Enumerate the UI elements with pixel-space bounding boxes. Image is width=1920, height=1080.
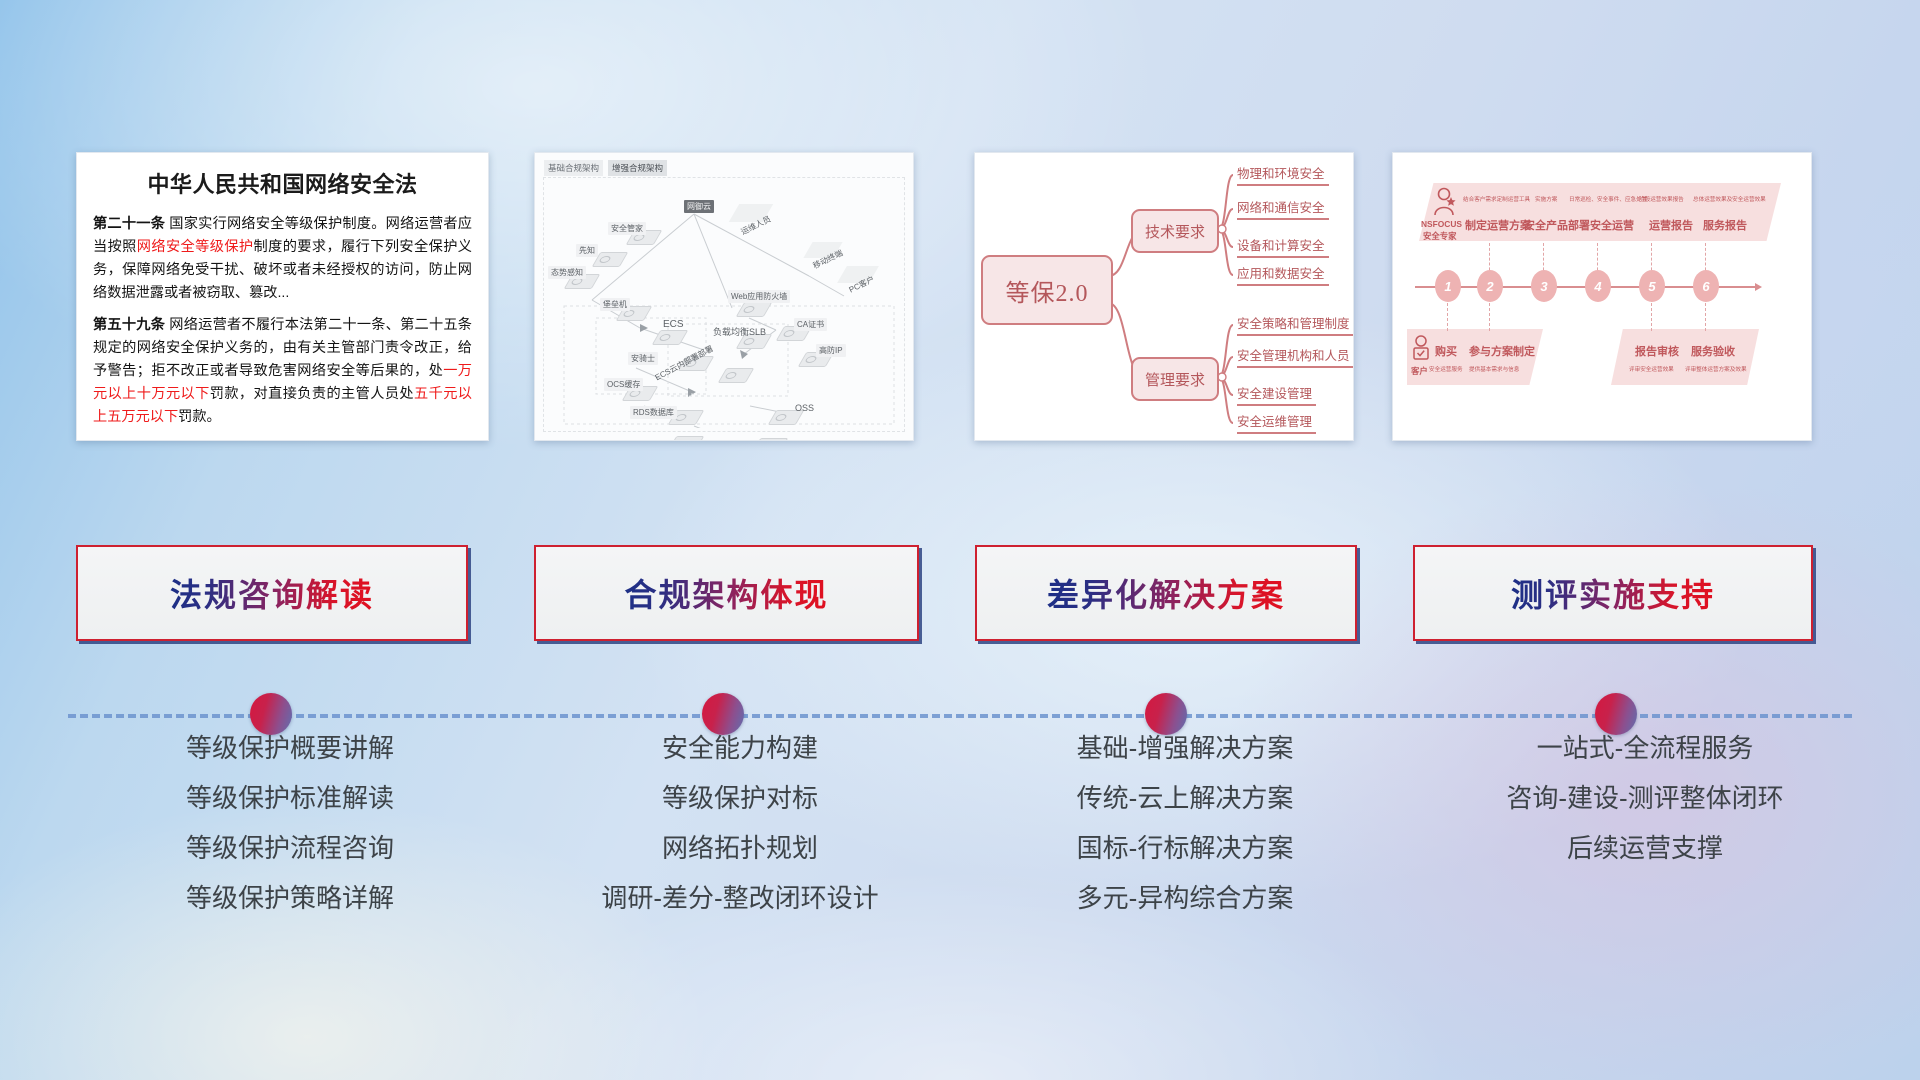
arch-node-icon-db-audit — [668, 436, 705, 441]
flow-step-6[interactable]: 6 — [1693, 270, 1719, 302]
bullet-item: 等级保护策略详解 — [60, 885, 520, 911]
mindmap-root-node[interactable]: 等保2.0 — [981, 255, 1113, 325]
arch-label-ocs-cache: OCS缓存 — [604, 378, 643, 391]
flow-top-sub-4: 阶段运营效果报告 — [1639, 195, 1684, 203]
bullet-item: 国标-行标解决方案 — [960, 835, 1410, 861]
flow-step-1[interactable]: 1 — [1435, 270, 1461, 302]
bullet-column-2: 安全能力构建 等级保护对标 网络拓扑规划 调研-差分-整改闭环设计 — [520, 735, 960, 935]
bullet-item: 等级保护流程咨询 — [60, 835, 520, 861]
arch-label-waf: Web应用防火墙 — [728, 290, 790, 303]
arch-label-slb: 负载均衡SLB — [710, 324, 769, 339]
architecture-connectors — [544, 178, 908, 428]
timeline-dot-3[interactable] — [1145, 693, 1187, 735]
bullet-column-3: 基础-增强解决方案 传统-云上解决方案 国标-行标解决方案 多元-异构综合方案 — [960, 735, 1410, 935]
bullet-column-1: 等级保护概要讲解 等级保护标准解读 等级保护流程咨询 等级保护策略详解 — [60, 735, 520, 935]
section-title-row: 法规咨询解读 合规架构体现 差异化解决方案 测评实施支持 — [0, 545, 1920, 641]
customer-avatar-icon — [1409, 335, 1433, 363]
law-article-21-number: 第二十一条 — [93, 216, 165, 232]
arch-label-oss: OSS — [792, 402, 817, 414]
tab-enhanced-architecture[interactable]: 增强合规架构 — [608, 160, 667, 176]
bullet-item: 网络拓扑规划 — [520, 835, 960, 861]
flow-top-sub-2: 实施方案 — [1535, 195, 1557, 203]
thumbnail-card-row: 中华人民共和国网络安全法 第二十一条 国家实行网络安全等级保护制度。网络运营者应… — [0, 152, 1920, 444]
mindmap-leaf-construction-mgmt: 安全建设管理 — [1237, 383, 1312, 404]
arch-label-anti-ddos-ip: 高防IP — [816, 344, 846, 357]
arch-label-situation-awareness: 态势感知 — [548, 266, 586, 279]
flow-step-3[interactable]: 3 — [1531, 270, 1557, 302]
arch-label-rds-db: RDS数据库 — [630, 406, 677, 419]
law-article-59-seg-2: 罚款，对直接负责的主管人员处 — [210, 386, 414, 402]
section-title-label-2: 合规架构体现 — [624, 570, 828, 616]
section-title-box-3[interactable]: 差异化解决方案 — [975, 545, 1357, 641]
section-title-label-3: 差异化解决方案 — [1047, 570, 1285, 616]
flow-bottom-title-2: 参与方案制定 — [1469, 343, 1535, 359]
bullet-item: 等级保护标准解读 — [60, 785, 520, 811]
flow-axis-arrow-icon — [1755, 283, 1762, 291]
arch-label-security-butler: 安全管家 — [608, 222, 646, 235]
bullet-item: 等级保护对标 — [520, 785, 960, 811]
flow-step-5[interactable]: 5 — [1639, 270, 1665, 302]
mindmap-leaf-physical-env: 物理和环境安全 — [1237, 163, 1325, 184]
flow-top-title-5: 服务报告 — [1703, 217, 1747, 233]
bullet-item: 后续运营支撑 — [1410, 835, 1880, 861]
law-title: 中华人民共和国网络安全法 — [93, 167, 472, 199]
card-cybersecurity-law[interactable]: 中华人民共和国网络安全法 第二十一条 国家实行网络安全等级保护制度。网络运营者应… — [76, 152, 489, 441]
law-article-21-seg-1: 网络安全等级保护 — [137, 239, 254, 255]
expert-role-line2: 安全专家 — [1423, 230, 1457, 242]
arch-label-wangyuyun: 网御云 — [684, 200, 714, 213]
flow-step-4[interactable]: 4 — [1585, 270, 1611, 302]
flow-top-sub-3: 日常巡检、安全事件、应急处置 — [1569, 195, 1647, 203]
architecture-canvas: 网御云 安全管家 先知 态势感知 堡垒机 ECS 安骑士 OCS缓存 ECS云内… — [543, 177, 905, 432]
flow-bottom-sub-4: 评审整体运营方案及效果 — [1685, 365, 1747, 373]
bullet-item: 传统-云上解决方案 — [960, 785, 1410, 811]
expert-role-line1: NSFOCUS — [1421, 219, 1462, 229]
timeline-dot-2[interactable] — [702, 693, 744, 735]
flow-top-title-1: 制定运营方案 — [1465, 217, 1531, 233]
mindmap-branch-management[interactable]: 管理要求 — [1131, 357, 1219, 401]
mindmap-leaf-network-comm: 网络和通信安全 — [1237, 197, 1325, 218]
flow-top-sub-5: 总体运营效果及安全运营效果 — [1693, 195, 1766, 203]
arch-label-anqishi: 安骑士 — [628, 352, 658, 365]
bullet-item: 咨询-建设-测评整体闭环 — [1410, 785, 1880, 811]
flow-bottom-sub-1: 安全运营服务 — [1429, 365, 1463, 373]
flow-top-title-4: 运营报告 — [1649, 217, 1693, 233]
flow-bottom-title-4: 服务验收 — [1691, 343, 1735, 359]
arch-label-ca-cert: CA证书 — [794, 318, 827, 331]
tab-basic-architecture[interactable]: 基础合规架构 — [544, 160, 603, 176]
arch-label-bastion-host: 堡垒机 — [600, 298, 630, 311]
flow-bottom-sub-2: 提供基本需求与信息 — [1469, 365, 1519, 373]
architecture-tab-list: 基础合规架构 增强合规架构 — [544, 160, 667, 176]
arch-label-ecs: ECS — [660, 318, 687, 331]
customer-role-label: 客户 — [1411, 365, 1428, 377]
card-cloud-architecture[interactable]: 基础合规架构 增强合规架构 — [534, 152, 914, 441]
card-mindmap-dengbao[interactable]: 等保2.0 技术要求 物理和环境安全 网络和通信安全 设备和计算安全 应用和数据… — [974, 152, 1354, 441]
flow-top-sub-1: 结合客户需求定制运营工具 — [1463, 195, 1530, 203]
arch-label-xianzhi: 先知 — [576, 244, 598, 257]
bullet-column-row: 等级保护概要讲解 等级保护标准解读 等级保护流程咨询 等级保护策略详解 安全能力… — [0, 735, 1920, 975]
mindmap-leaf-ops-mgmt: 安全运维管理 — [1237, 411, 1312, 432]
law-article-59: 第五十九条 网络运营者不履行本法第二十一条、第二十五条规定的网络安全保护义务的，… — [93, 314, 472, 429]
mindmap-branch-technical[interactable]: 技术要求 — [1131, 209, 1219, 253]
flow-bottom-title-1: 购买 — [1435, 343, 1457, 359]
section-title-box-1[interactable]: 法规咨询解读 — [76, 545, 468, 641]
expert-avatar-icon — [1431, 187, 1457, 217]
mindmap-leaf-policy-system: 安全策略和管理制度 — [1237, 313, 1350, 334]
timeline-dot-1[interactable] — [250, 693, 292, 735]
card-service-flow[interactable]: 1 2 3 4 5 6 NSFOCUS 安全专家 — [1392, 152, 1812, 441]
mindmap-leaf-device-compute: 设备和计算安全 — [1237, 235, 1325, 256]
section-title-label-1: 法规咨询解读 — [170, 570, 374, 616]
bullet-item: 等级保护概要讲解 — [60, 735, 520, 761]
section-title-label-4: 测评实施支持 — [1511, 570, 1715, 616]
section-title-box-2[interactable]: 合规架构体现 — [534, 545, 919, 641]
bullet-column-4: 一站式-全流程服务 咨询-建设-测评整体闭环 后续运营支撑 — [1410, 735, 1880, 885]
flow-top-title-2: 安全产品部署 — [1524, 217, 1590, 233]
flow-bottom-title-3: 报告审核 — [1635, 343, 1679, 359]
law-article-21: 第二十一条 国家实行网络安全等级保护制度。网络运营者应当按照网络安全等级保护制度… — [93, 213, 472, 305]
timeline-dashed-line — [68, 714, 1852, 718]
flow-step-2[interactable]: 2 — [1477, 270, 1503, 302]
bullet-item: 安全能力构建 — [520, 735, 960, 761]
arch-node-icon-vpc — [752, 438, 789, 441]
mindmap-leaf-app-data: 应用和数据安全 — [1237, 263, 1325, 284]
bullet-item: 调研-差分-整改闭环设计 — [520, 885, 960, 911]
timeline-dot-4[interactable] — [1595, 693, 1637, 735]
flow-bottom-right-band — [1611, 329, 1759, 385]
timeline — [0, 693, 1920, 737]
law-article-59-number: 第五十九条 — [93, 317, 165, 333]
bullet-item: 基础-增强解决方案 — [960, 735, 1410, 761]
law-article-59-seg-4: 罚款。 — [178, 409, 221, 425]
flow-bottom-sub-3: 评审安全运营效果 — [1629, 365, 1674, 373]
section-title-box-4[interactable]: 测评实施支持 — [1413, 545, 1813, 641]
bullet-item: 多元-异构综合方案 — [960, 885, 1410, 911]
flow-top-title-3: 安全运营 — [1590, 217, 1634, 233]
mindmap-leaf-org-personnel: 安全管理机构和人员 — [1237, 345, 1350, 366]
bullet-item: 一站式-全流程服务 — [1410, 735, 1880, 761]
